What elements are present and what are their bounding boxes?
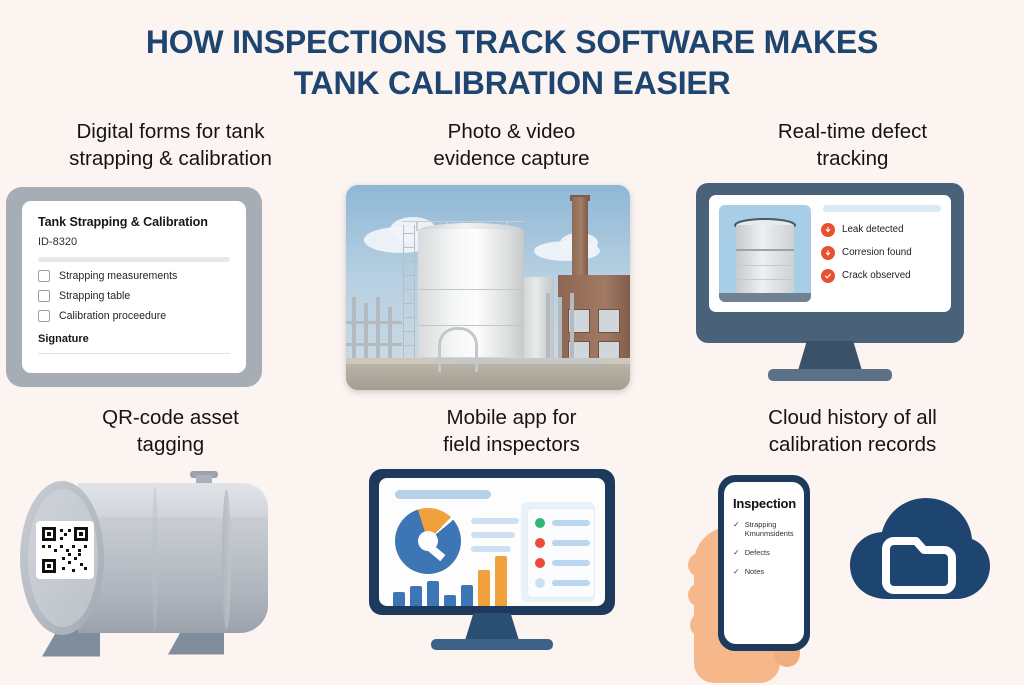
feature-cell-cloud-history: Cloud history of all calibration records <box>682 404 1023 685</box>
bar <box>478 570 490 606</box>
monitor-neck <box>465 613 519 641</box>
screen-header-bar <box>823 205 941 212</box>
monitor-screen: Leak detected Corresion found <box>709 195 951 312</box>
caption-defect-tracking: Real-time defect tracking <box>682 118 1023 173</box>
bar <box>427 581 439 606</box>
status-row[interactable] <box>535 538 590 548</box>
status-dot-green <box>535 518 545 528</box>
phone-item-label: Notes <box>745 567 764 577</box>
phone-checklist-item[interactable]: ✓ Defects <box>733 548 795 558</box>
tank-seam <box>152 487 158 631</box>
checkbox-icon[interactable] <box>38 290 50 302</box>
page-title: HOW INSPECTIONS TRACK SOFTWARE MAKES TAN… <box>0 22 1024 104</box>
phone-checklist-item[interactable]: ✓ Notes <box>733 567 795 577</box>
defect-item[interactable]: Corresion found <box>821 246 949 260</box>
smartphone: Inspection ✓ Strapping Kmunmsidents ✓ <box>718 475 810 651</box>
dashboard-screen <box>379 478 605 606</box>
desktop-monitor: Leak detected Corresion found <box>696 183 964 399</box>
cloud-folder-icon <box>844 495 990 611</box>
check-icon: ✓ <box>733 548 740 558</box>
bar <box>444 595 456 606</box>
checkbox-icon[interactable] <box>38 310 50 322</box>
signature-label: Signature <box>38 333 230 345</box>
infographic-page: HOW INSPECTIONS TRACK SOFTWARE MAKES TAN… <box>0 0 1024 683</box>
defect-list: Leak detected Corresion found <box>821 223 949 292</box>
check-icon <box>821 269 835 283</box>
text-placeholder-line <box>471 546 511 552</box>
donut-hole <box>418 531 438 551</box>
status-row[interactable] <box>535 558 590 568</box>
horizontal-tank <box>0 475 341 685</box>
status-label-bar <box>552 540 590 546</box>
defect-item[interactable]: Crack observed <box>821 269 949 283</box>
phone-app-title: Inspection <box>733 496 795 511</box>
monitor-base <box>768 369 892 381</box>
art-qr-tank <box>0 469 341 685</box>
dashboard-monitor <box>369 469 615 685</box>
phone-screen[interactable]: Inspection ✓ Strapping Kmunmsidents ✓ <box>724 482 804 644</box>
bar-chart <box>393 574 513 606</box>
checkbox-icon[interactable] <box>38 270 50 282</box>
tank-base <box>719 293 811 302</box>
status-dot-red <box>535 558 545 568</box>
tank-highlight <box>78 483 268 517</box>
tank-body <box>736 225 794 293</box>
art-defect-monitor: Leak detected Corresion found <box>682 183 1023 399</box>
text-placeholder-line <box>471 518 519 524</box>
form-id: ID-8320 <box>38 236 230 248</box>
status-label-bar <box>552 520 590 526</box>
phone-item-label: Strapping Kmunmsidents <box>745 520 794 540</box>
status-dot-idle <box>535 578 545 588</box>
alert-down-icon <box>821 223 835 237</box>
art-dashboard-monitor <box>341 469 682 685</box>
status-label-bar <box>552 580 590 586</box>
form-title: Tank Strapping & Calibration <box>38 215 230 229</box>
form-frame: Tank Strapping & Calibration ID-8320 Str… <box>6 187 262 387</box>
art-photo-evidence <box>341 183 682 399</box>
feature-cell-defect-tracking: Real-time defect tracking <box>682 118 1023 399</box>
title-line-1: HOW INSPECTIONS TRACK SOFTWARE MAKES <box>0 22 1024 63</box>
art-digital-form: Tank Strapping & Calibration ID-8320 Str… <box>0 183 341 399</box>
bar <box>495 556 507 606</box>
bar <box>461 585 473 606</box>
bar <box>393 592 405 606</box>
ground-slab <box>346 364 630 390</box>
status-row[interactable] <box>535 578 590 588</box>
check-icon: ✓ <box>733 520 740 540</box>
status-row[interactable] <box>535 518 590 528</box>
caption-qr-tagging: QR-code asset tagging <box>0 404 341 459</box>
check-icon: ✓ <box>733 567 740 577</box>
tank-thumbnail[interactable] <box>719 205 811 302</box>
qr-code-label[interactable] <box>36 521 94 579</box>
status-dot-red <box>535 538 545 548</box>
signature-line[interactable] <box>38 353 230 355</box>
bar <box>410 586 422 606</box>
qr-code-icon <box>42 527 88 573</box>
form-checkbox-row[interactable]: Strapping table <box>38 290 230 302</box>
status-label-bar <box>552 560 590 566</box>
caption-cloud-history: Cloud history of all calibration records <box>682 404 1023 459</box>
monitor-bezel: Leak detected Corresion found <box>696 183 964 343</box>
cloud-phone-group: Inspection ✓ Strapping Kmunmsidents ✓ <box>682 469 1023 685</box>
u-bend-pipe <box>438 327 478 372</box>
dashboard-title-bar <box>395 490 491 499</box>
tank-farm-photo <box>346 185 630 390</box>
dashboard-bezel <box>369 469 615 615</box>
feature-cell-digital-forms: Digital forms for tank strapping & calib… <box>0 118 341 399</box>
caption-photo-evidence: Photo & video evidence capture <box>341 118 682 173</box>
feature-cell-photo-evidence: Photo & video evidence capture <box>341 118 682 399</box>
form-checkbox-row[interactable]: Strapping measurements <box>38 270 230 282</box>
caption-mobile-app: Mobile app for field inspectors <box>341 404 682 459</box>
phone-notch <box>750 475 778 482</box>
caption-digital-forms: Digital forms for tank strapping & calib… <box>0 118 341 173</box>
form-divider-bar <box>38 257 230 262</box>
text-placeholder-line <box>471 532 515 538</box>
arrow-down-icon <box>821 246 835 260</box>
title-line-2: TANK CALIBRATION EASIER <box>0 63 1024 104</box>
monitor-neck <box>798 341 862 371</box>
inspection-form-card: Tank Strapping & Calibration ID-8320 Str… <box>22 201 246 373</box>
tank-seam <box>222 489 231 629</box>
feature-cell-mobile-app: Mobile app for field inspectors <box>341 404 682 685</box>
feature-grid: Digital forms for tank strapping & calib… <box>0 118 1024 683</box>
art-cloud-phone: Inspection ✓ Strapping Kmunmsidents ✓ <box>682 469 1023 685</box>
monitor-base <box>431 639 553 650</box>
phone-item-label: Defects <box>745 548 770 558</box>
form-checkbox-row[interactable]: Calibration proceedure <box>38 310 230 322</box>
feature-cell-qr-tagging: QR-code asset tagging <box>0 404 341 685</box>
defect-item[interactable]: Leak detected <box>821 223 949 237</box>
phone-checklist-item[interactable]: ✓ Strapping Kmunmsidents <box>733 520 795 540</box>
